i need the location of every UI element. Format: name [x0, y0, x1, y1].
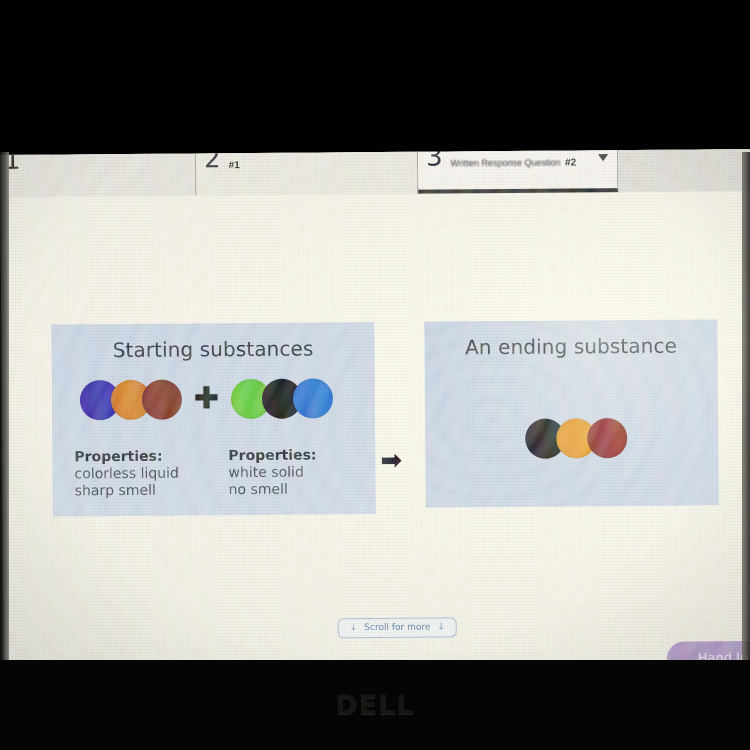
- starting-substances-title: Starting substances: [51, 322, 374, 363]
- browser-tab-strip: 1 2 #1 3 Written Response Question #2: [0, 149, 750, 197]
- atom: [142, 380, 182, 420]
- tab-question-1[interactable]: 1: [0, 153, 196, 197]
- tab-text: Written Response Question #2: [451, 152, 577, 171]
- arrow-down-icon: ↓: [437, 622, 445, 632]
- laptop-screen: 1 2 #1 3 Written Response Question #2: [0, 149, 750, 668]
- tab-subtitle: #1: [229, 160, 240, 171]
- molecule-ending-substance: [525, 418, 627, 459]
- properties-substance-a: Properties: colorless liquid sharp smell: [74, 449, 179, 501]
- properties-label: Properties:: [228, 447, 316, 465]
- reaction-arrow-icon: ➡: [380, 448, 402, 474]
- ending-substance-card: An ending substance: [424, 319, 718, 507]
- molecule-substance-b: [231, 378, 333, 419]
- tab-title: Written Response Question: [451, 158, 561, 169]
- screen-right-edge: [742, 152, 750, 664]
- scroll-for-more-label: Scroll for more: [364, 623, 430, 634]
- scroll-for-more-button[interactable]: ↓ Scroll for more ↓: [338, 617, 457, 638]
- question-content: Starting substances ✚ Propert: [0, 191, 750, 668]
- atom: [293, 378, 333, 418]
- property-line: white solid: [228, 464, 316, 482]
- arrow-down-icon: ↓: [350, 623, 358, 633]
- molecule-substance-a: [80, 380, 182, 421]
- property-line: no smell: [229, 481, 317, 499]
- tab-subtitle: #2: [565, 157, 576, 168]
- tab-written-response-question-2[interactable]: 3 Written Response Question #2: [418, 150, 618, 194]
- chevron-down-icon[interactable]: [598, 154, 608, 161]
- screen-left-edge: [0, 152, 9, 664]
- laptop-top-bezel: [0, 0, 750, 155]
- tab-number: 2: [204, 152, 221, 172]
- property-line: sharp smell: [75, 483, 179, 501]
- ending-substance-title: An ending substance: [424, 319, 717, 359]
- properties-substance-b: Properties: white solid no smell: [228, 447, 317, 499]
- tab-question-2[interactable]: 2 #1: [196, 152, 418, 196]
- plus-icon: ✚: [194, 384, 219, 414]
- property-line: colorless liquid: [74, 466, 178, 484]
- tab-overflow[interactable]: [618, 149, 750, 192]
- dell-logo: DELL: [0, 690, 750, 721]
- starting-molecules-row: ✚: [80, 378, 333, 420]
- laptop-photo: 1 2 #1 3 Written Response Question #2: [0, 0, 750, 750]
- starting-substances-card: Starting substances ✚ Propert: [51, 322, 375, 517]
- tab-text: #1: [229, 155, 240, 173]
- tab-number: 3: [426, 150, 443, 170]
- atom: [587, 418, 627, 458]
- properties-label: Properties:: [74, 449, 178, 467]
- ending-molecule-row: [525, 418, 627, 459]
